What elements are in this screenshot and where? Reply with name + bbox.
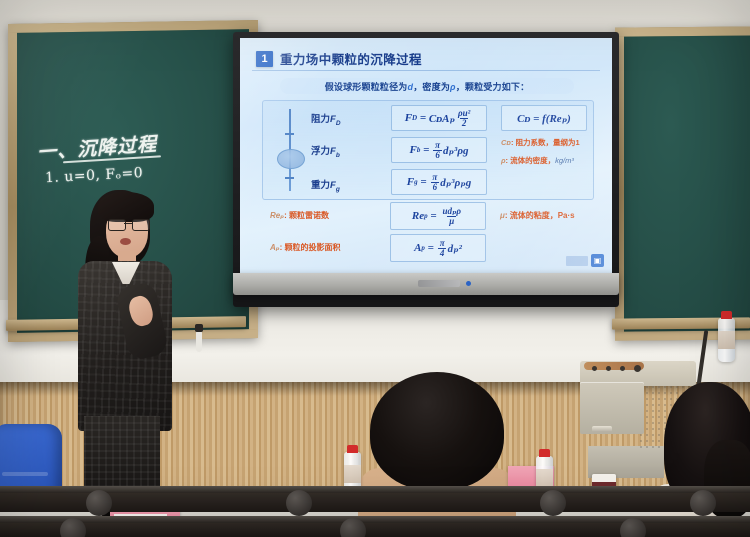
title-divider: [252, 70, 600, 71]
fraction-area: π 4: [438, 239, 447, 258]
chalk-note: 1. u=0, Fₒ=0: [45, 165, 144, 186]
lecture-hall-photo: 一、沉降过程 1. u=0, Fₒ=0 1 重力场中颗粒的沉降过程 假设球形颗粒…: [0, 0, 750, 537]
glasses-lens-left: [108, 219, 126, 231]
bottle-label-3: [536, 469, 553, 487]
slide-title: 重力场中颗粒的沉降过程: [280, 49, 422, 68]
equals-sign-2: =: [420, 144, 432, 156]
note-viscosity: μ: 流体的粘度，Pa·s: [500, 210, 575, 221]
formula-gravity: Fg = π 6 dₚ³ρₚg: [391, 169, 487, 195]
chair-back-slot: [2, 472, 48, 476]
presentation-screen[interactable]: 1 重力场中颗粒的沉降过程 假设球形颗粒粒径为d，密度为ρ，颗粒受力如下： 阻力…: [240, 38, 612, 273]
glasses-bridge: [124, 223, 132, 224]
bottle-cap-icon-2: [347, 445, 358, 453]
console-knob-3[interactable]: [620, 366, 625, 371]
equals-sign-3: =: [418, 176, 430, 188]
fraction-gravity: π 6: [430, 173, 439, 192]
formula-projected-area: Ap = π 4 dₚ²: [390, 234, 486, 262]
audience-member-right: [640, 388, 750, 537]
particle-force-diagram: [273, 107, 307, 193]
chair-knob-7: [620, 518, 646, 537]
equals-sign-4: =: [428, 210, 440, 222]
glasses-icon: [108, 219, 148, 230]
audience-member-center: [352, 372, 520, 537]
equals-sign-5: =: [425, 242, 437, 254]
slide-header: 1 重力场中颗粒的沉降过程: [256, 49, 604, 68]
console-knob-4[interactable]: [634, 365, 641, 372]
console-drawer-handle[interactable]: [592, 426, 612, 432]
note-projected-area: Aₚ: 颗粒的投影面积: [270, 242, 341, 253]
console-drawer[interactable]: [580, 382, 644, 434]
desk-row-front: [0, 486, 750, 512]
microphone-head-icon: [195, 324, 203, 332]
chair-knob-2: [286, 490, 312, 516]
force-label-buoyancy: 浮力Fb: [311, 143, 340, 159]
formula-drag-coefficient: Cᴅ = f(Reₚ): [501, 105, 587, 131]
diagram-tick-lower: [285, 177, 294, 179]
note-fluid-density: ρ: 流体的密度，kg/m³: [501, 155, 574, 166]
glasses-lens-right: [132, 219, 150, 231]
note-reynolds: Reₚ: 颗粒雷诺数: [270, 210, 329, 221]
slide-number-badge: 1: [256, 51, 273, 67]
chair-knob-5: [60, 518, 86, 537]
bezel-brand-logo: [418, 280, 460, 287]
chair-knob-4: [690, 490, 716, 516]
chair-knob-1: [86, 490, 112, 516]
blackboard-right: [615, 26, 750, 340]
formula-reynolds: Rep = udₚρ μ: [390, 202, 486, 230]
slide-subtitle-pill: 假设球形颗粒粒径为d，密度为ρ，颗粒受力如下：: [280, 78, 574, 94]
note-drag-coefficient: Cᴅ: 阻力系数，量纲为1: [501, 137, 580, 148]
particle-circle-icon: [277, 149, 305, 169]
fraction-reynolds: udₚρ μ: [440, 207, 463, 226]
slide-subtitle: 假设球形颗粒粒径为d，密度为ρ，颗粒受力如下：: [325, 80, 530, 93]
bottle-cap-icon: [721, 311, 732, 319]
presenter-mouth: [120, 238, 131, 245]
fraction-drag: ρu² 2: [456, 109, 472, 128]
force-label-drag: 阻力FD: [311, 111, 341, 127]
equals-sign: =: [417, 112, 429, 124]
desk-rail-front: [0, 486, 750, 493]
formula-buoyancy: Fb = π 6 dₚ³ρg: [391, 137, 487, 163]
presenter-teacher: [72, 188, 190, 508]
subtitle-suffix: ，颗粒受力如下：: [456, 82, 530, 92]
forces-panel: 阻力FD 浮力Fb 重力Fg FD = CᴅAₚ ρu² 2 Fb =: [262, 100, 594, 200]
slide-corner-badge: ▣: [566, 254, 604, 267]
bottle-label: [718, 331, 735, 349]
console-control-strip[interactable]: [584, 362, 644, 370]
badge-bar: [566, 256, 588, 266]
force-label-gravity: 重力Fg: [311, 177, 340, 193]
bottle-label-2: [344, 465, 361, 483]
desk-microphone[interactable]: [196, 330, 202, 352]
console-knob-2[interactable]: [606, 366, 611, 371]
bottle-cap-icon-3: [539, 449, 550, 457]
diagram-tick-upper: [285, 133, 294, 135]
subtitle-mid: ，密度为: [413, 82, 450, 92]
console-knob-1[interactable]: [592, 366, 597, 371]
power-indicator-icon: [466, 281, 471, 286]
presenter-hair-front: [98, 192, 154, 222]
blackboard-right-surface: [624, 35, 750, 331]
audience-center-hair: [370, 372, 504, 490]
fraction-buoyancy: π 6: [433, 141, 442, 160]
subtitle-prefix: 假设球形颗粒粒径为: [325, 82, 408, 92]
formula-drag: FD = CᴅAₚ ρu² 2: [391, 105, 487, 131]
chair-knob-6: [340, 518, 366, 537]
water-bottle-ledge[interactable]: [718, 318, 735, 362]
slide-content: 1 重力场中颗粒的沉降过程 假设球形颗粒粒径为d，密度为ρ，颗粒受力如下： 阻力…: [240, 38, 612, 273]
app-logo-icon: ▣: [591, 254, 604, 267]
chair-knob-3: [540, 490, 566, 516]
